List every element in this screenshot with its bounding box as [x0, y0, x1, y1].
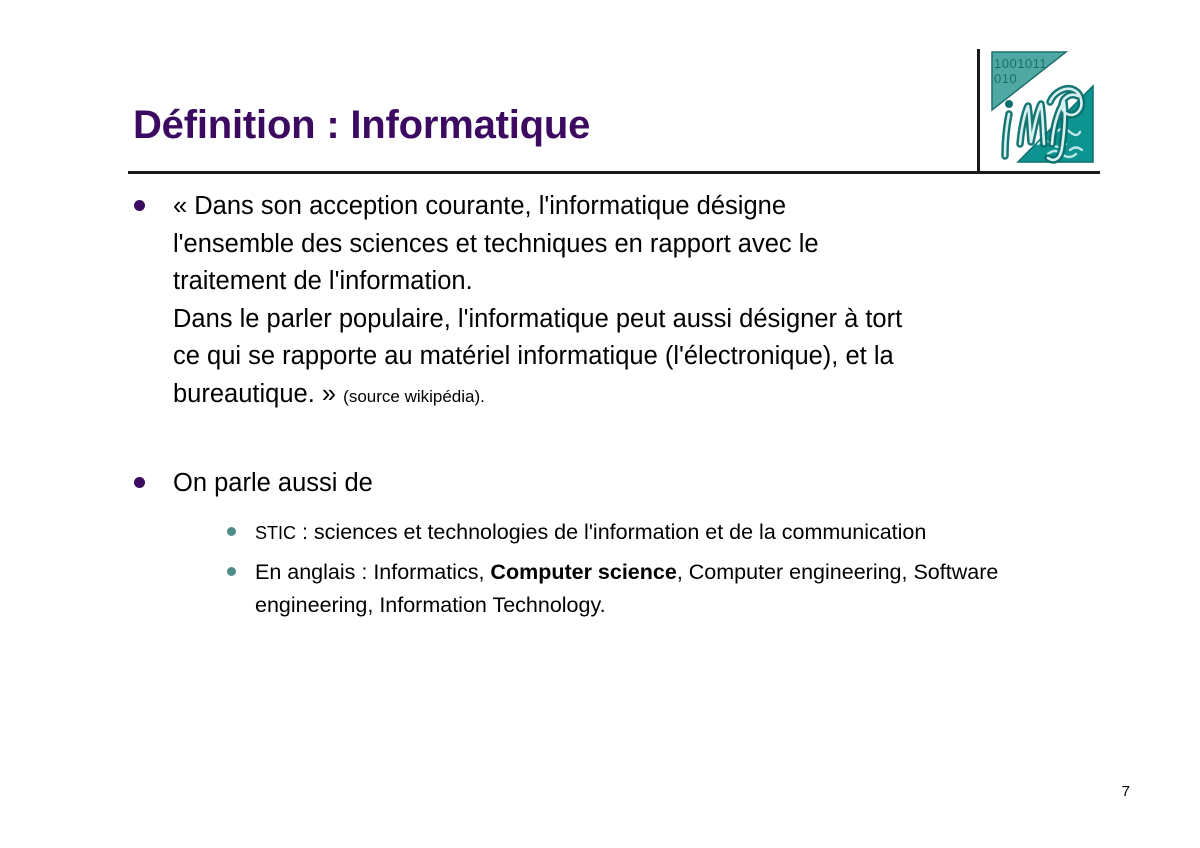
bullet-dot-icon — [134, 477, 145, 488]
definition-line-5: ce qui se rapporte au matériel informati… — [173, 338, 1098, 376]
sub-bullet-dot-icon — [227, 567, 236, 576]
page-number: 7 — [1122, 783, 1130, 800]
sub-bullet-list: STIC : sciences et technologies de l'inf… — [173, 516, 1098, 622]
definition-line-4: Dans le parler populaire, l'informatique… — [173, 301, 1098, 339]
bullet-definition-text: « Dans son acception courante, l'informa… — [173, 188, 1098, 415]
definition-line-3: traitement de l'information. — [173, 263, 1098, 301]
bullet-also-called-text: On parle aussi de — [173, 465, 1098, 503]
slide-body: « Dans son acception courante, l'informa… — [128, 188, 1098, 628]
page-title: Définition : Informatique — [133, 103, 590, 148]
sub-bullet-stic-text: STIC : sciences et technologies de l'inf… — [255, 516, 1098, 550]
slide: Définition : Informatique — [0, 0, 1200, 848]
sub-bullet-english: En anglais : Informatics, Computer scien… — [219, 556, 1098, 622]
stic-expansion: : sciences et technologies de l'informat… — [296, 520, 926, 544]
definition-line-6: bureautique. » (source wikipédia). — [173, 376, 1098, 416]
definition-line-2: l'ensemble des sciences et techniques en… — [173, 226, 1098, 264]
definition-line-6-text: bureautique. » — [173, 380, 336, 408]
english-prefix: En anglais : Informatics, — [255, 560, 490, 584]
bullet-dot-icon — [134, 200, 145, 211]
section-spacer — [128, 415, 1098, 465]
sub-bullet-english-text: En anglais : Informatics, Computer scien… — [255, 556, 1098, 622]
definition-source-note: (source wikipédia). — [343, 387, 485, 406]
title-divider-vertical — [977, 49, 980, 173]
sub-bullet-dot-icon — [227, 527, 236, 536]
bullet-also-called: On parle aussi de STIC : sciences et tec… — [128, 465, 1098, 622]
bullet-definition: « Dans son acception courante, l'informa… — [128, 188, 1098, 415]
english-emphasis: Computer science — [490, 560, 676, 584]
definition-line-1: « Dans son acception courante, l'informa… — [173, 188, 1098, 226]
imag-logo: 1001011010 — [990, 48, 1095, 166]
title-divider-horizontal — [128, 171, 1100, 174]
imag-logo-graphic — [990, 48, 1095, 166]
sub-bullet-stic: STIC : sciences et technologies de l'inf… — [219, 516, 1098, 550]
stic-acronym: STIC — [255, 523, 296, 543]
